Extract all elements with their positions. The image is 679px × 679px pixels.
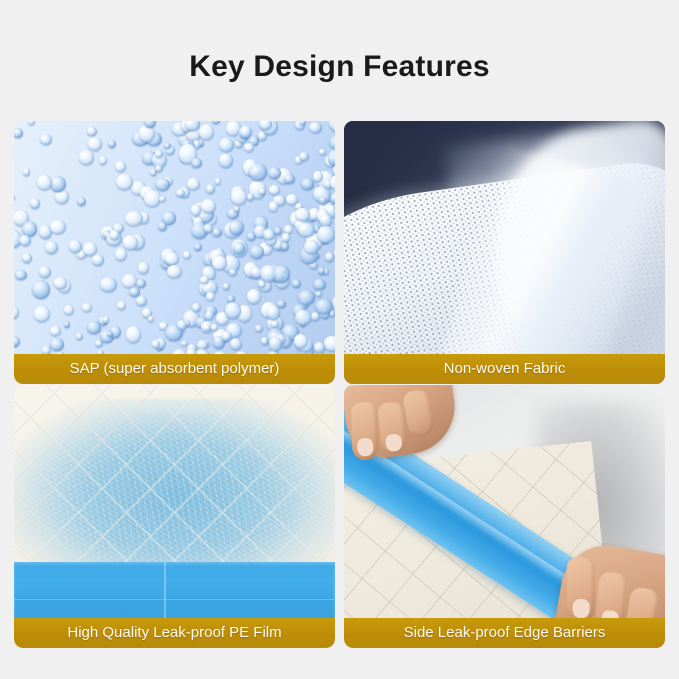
sap-bead bbox=[247, 193, 254, 201]
sap-bead bbox=[255, 325, 263, 332]
sap-bead bbox=[273, 265, 290, 283]
fingernail bbox=[573, 599, 590, 618]
sap-bead bbox=[284, 174, 295, 184]
sap-bead bbox=[318, 267, 326, 275]
sap-bead bbox=[125, 211, 143, 226]
sap-bead bbox=[212, 256, 226, 271]
sap-bead bbox=[39, 266, 51, 278]
sap-bead bbox=[282, 233, 291, 242]
caption-sap: SAP (super absorbent polymer) bbox=[14, 354, 335, 384]
sap-bead bbox=[126, 326, 141, 343]
sap-bead bbox=[159, 196, 166, 202]
sap-bead bbox=[50, 326, 61, 336]
sap-bead bbox=[181, 341, 188, 347]
sap-bead bbox=[108, 140, 116, 148]
sap-bead bbox=[76, 333, 83, 340]
sap-bead bbox=[225, 302, 241, 319]
sap-bead bbox=[50, 338, 64, 351]
sap-bead bbox=[15, 270, 27, 280]
edge-barriers-photo bbox=[344, 385, 665, 648]
sap-bead bbox=[263, 229, 276, 240]
sap-bead bbox=[54, 277, 67, 290]
sap-bead bbox=[317, 226, 335, 243]
sap-bead bbox=[23, 168, 31, 176]
sap-bead bbox=[117, 301, 126, 310]
sap-bead bbox=[247, 289, 262, 305]
sap-bead bbox=[212, 121, 220, 124]
sap-bead bbox=[298, 290, 315, 305]
sap-bead bbox=[206, 292, 215, 301]
sap-bead bbox=[295, 310, 312, 325]
sap-bead bbox=[233, 242, 246, 254]
pe-film-crease-vertical bbox=[164, 562, 166, 618]
sap-bead bbox=[324, 336, 335, 351]
sap-beads-cluster bbox=[14, 121, 335, 384]
sap-bead bbox=[192, 303, 201, 312]
sap-bead bbox=[200, 276, 209, 285]
sap-bead bbox=[155, 178, 170, 191]
sap-bead bbox=[277, 300, 286, 308]
sap-bead bbox=[40, 134, 52, 146]
feature-card-pe-film[interactable]: High Quality Leak-proof PE Film bbox=[14, 385, 335, 648]
sap-bead bbox=[191, 158, 202, 168]
sap-bead bbox=[231, 189, 247, 206]
feature-card-sap[interactable]: SAP (super absorbent polymer) bbox=[14, 121, 335, 384]
sap-bead bbox=[199, 124, 214, 140]
sap-bead bbox=[115, 248, 128, 261]
sap-bead bbox=[129, 287, 140, 297]
sap-bead bbox=[87, 321, 102, 334]
sap-bead bbox=[205, 311, 214, 320]
sap-bead bbox=[294, 334, 308, 349]
sap-bead bbox=[45, 241, 58, 254]
sap-bead bbox=[333, 121, 335, 134]
sap-bead bbox=[330, 193, 335, 203]
caption-edge-barriers: Side Leak-proof Edge Barriers bbox=[344, 618, 665, 648]
fingernail bbox=[357, 438, 374, 457]
sap-bead bbox=[176, 189, 185, 197]
sap-bead bbox=[320, 214, 333, 227]
sap-bead bbox=[34, 306, 50, 321]
sap-bead bbox=[299, 121, 305, 125]
sap-bead bbox=[22, 253, 32, 263]
sap-bead bbox=[50, 220, 66, 235]
sap-bead bbox=[167, 265, 182, 278]
sap-bead bbox=[206, 184, 215, 194]
sap-bead bbox=[212, 228, 222, 237]
sap-bead bbox=[334, 246, 335, 260]
sap-bead bbox=[14, 128, 23, 138]
feature-card-edge-barriers[interactable]: Side Leak-proof Edge Barriers bbox=[344, 385, 665, 648]
sap-bead bbox=[286, 194, 298, 205]
sap-bead bbox=[229, 269, 238, 277]
sap-bead bbox=[299, 152, 309, 161]
sap-bead bbox=[219, 153, 233, 168]
fingernail bbox=[385, 434, 402, 452]
sap-bead bbox=[183, 251, 191, 259]
feature-grid-page: Key Design Features SAP (super absorbent… bbox=[0, 0, 679, 679]
sap-bead bbox=[64, 321, 71, 328]
sap-bead bbox=[136, 279, 145, 288]
sap-bead bbox=[14, 306, 19, 319]
sap-bead bbox=[155, 165, 163, 172]
sap-bead bbox=[229, 220, 245, 235]
sap-bead bbox=[99, 156, 107, 165]
sap-bead bbox=[185, 121, 200, 131]
finger bbox=[351, 402, 379, 461]
sap-bead bbox=[271, 320, 279, 328]
sap-bead bbox=[240, 125, 252, 138]
sap-bead bbox=[301, 178, 314, 189]
sap-bead bbox=[204, 224, 213, 233]
sap-bead bbox=[152, 340, 160, 347]
sap-bead bbox=[269, 337, 283, 351]
pe-film-photo bbox=[14, 385, 335, 648]
sap-bead bbox=[82, 303, 93, 312]
sap-bead bbox=[298, 223, 315, 238]
page-title: Key Design Features bbox=[0, 50, 679, 84]
feature-card-non-woven-fabric[interactable]: Non-woven Fabric bbox=[344, 121, 665, 384]
sap-bead bbox=[103, 316, 109, 323]
finger bbox=[377, 401, 407, 455]
sap-bead bbox=[28, 121, 36, 125]
sap-bead bbox=[92, 254, 104, 266]
features-grid: SAP (super absorbent polymer) Non-woven … bbox=[14, 121, 665, 649]
sap-bead bbox=[319, 149, 326, 155]
sap-bead bbox=[158, 222, 168, 231]
sap-bead bbox=[201, 199, 216, 213]
sap-bead bbox=[14, 336, 20, 347]
pe-film-strip bbox=[14, 562, 335, 618]
sap-bead bbox=[77, 197, 86, 206]
sap-bead bbox=[309, 122, 321, 133]
sap-bead bbox=[30, 198, 40, 209]
sap-bead bbox=[110, 230, 120, 240]
sap-bead bbox=[316, 291, 322, 297]
sap-bead bbox=[230, 338, 243, 351]
sap-bead bbox=[50, 176, 65, 192]
sap-bead bbox=[311, 312, 320, 321]
sap-bead bbox=[88, 137, 103, 151]
sap-bead bbox=[115, 161, 125, 172]
sap-bead bbox=[295, 208, 310, 221]
finger bbox=[402, 389, 436, 439]
sap-bead bbox=[325, 252, 335, 262]
sap-bead bbox=[100, 277, 117, 292]
sap-bead bbox=[64, 305, 74, 314]
sap-bead bbox=[215, 178, 221, 185]
sap-bead bbox=[304, 240, 319, 255]
sap-bead bbox=[313, 279, 326, 291]
sap-bead bbox=[250, 245, 265, 260]
caption-non-woven-fabric: Non-woven Fabric bbox=[344, 354, 665, 384]
sap-bead bbox=[79, 150, 94, 165]
sap-bead bbox=[148, 316, 154, 322]
sap-bead bbox=[329, 135, 335, 151]
sap-bead bbox=[269, 201, 278, 211]
caption-pe-film: High Quality Leak-proof PE Film bbox=[14, 618, 335, 648]
sap-bead bbox=[223, 283, 230, 290]
sap-bead bbox=[191, 204, 202, 216]
sap-bead bbox=[187, 178, 200, 191]
sap-bead bbox=[14, 194, 15, 201]
sap-bead bbox=[211, 324, 218, 330]
sap-bead bbox=[249, 163, 267, 181]
sap-bead bbox=[19, 235, 31, 246]
sap-bead bbox=[32, 280, 50, 299]
sap-bead bbox=[177, 320, 187, 330]
sap-bead bbox=[234, 206, 240, 212]
sap-bead bbox=[87, 127, 97, 136]
sap-bead bbox=[259, 188, 266, 195]
sap-bead bbox=[116, 174, 133, 191]
sap-bead bbox=[292, 279, 302, 288]
non-woven-fabric-photo bbox=[344, 121, 665, 384]
sap-bead bbox=[136, 296, 147, 307]
finger bbox=[567, 557, 595, 623]
sap-bead bbox=[244, 143, 254, 152]
sap-bead bbox=[269, 185, 281, 195]
sap-bead bbox=[314, 342, 326, 353]
pe-film-crease-horizontal bbox=[14, 599, 335, 600]
sap-bead bbox=[281, 242, 290, 251]
sap-bead bbox=[164, 143, 171, 149]
sap-bead bbox=[165, 252, 180, 265]
sap-bead bbox=[155, 150, 163, 158]
sap-photo bbox=[14, 121, 335, 384]
sap-bead bbox=[138, 262, 149, 274]
sap-bead bbox=[219, 138, 234, 152]
sap-bead bbox=[194, 243, 202, 251]
